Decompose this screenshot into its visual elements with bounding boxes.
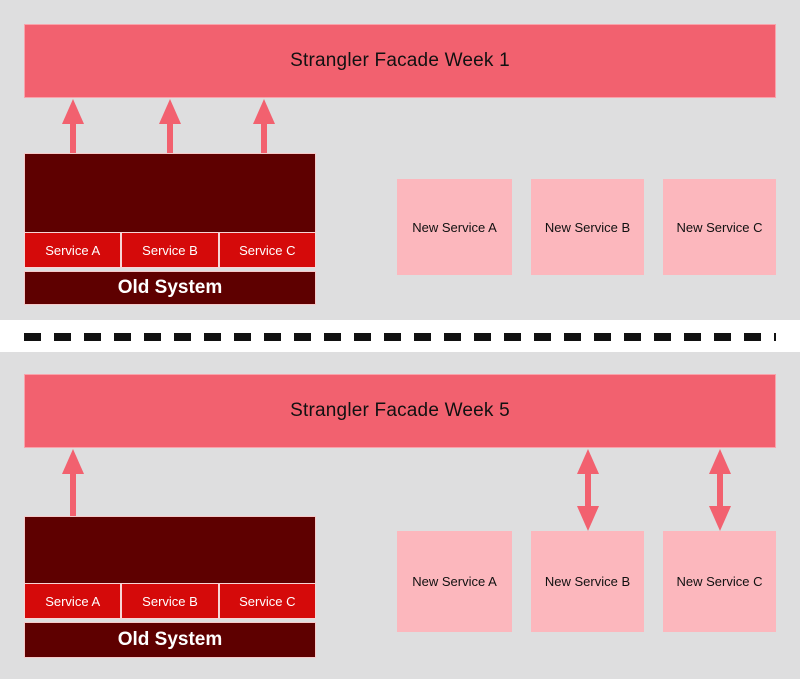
service-label: Service C bbox=[239, 243, 295, 258]
panel-week-5: Strangler Facade Week 5 Service A Servic… bbox=[0, 352, 800, 679]
panel-week-1: Strangler Facade Week 1 Service A Servic… bbox=[0, 0, 800, 320]
old-system-bar-week5: Old System bbox=[24, 622, 316, 658]
strangler-facade-bar-week1[interactable]: Strangler Facade Week 1 bbox=[24, 24, 776, 98]
old-system-bar-week1: Old System bbox=[24, 271, 316, 305]
new-service-box-b-week1[interactable]: New Service B bbox=[531, 179, 644, 275]
service-label: Service B bbox=[142, 243, 198, 258]
strangler-facade-bar-week5[interactable]: Strangler Facade Week 5 bbox=[24, 374, 776, 448]
new-service-box-c-week5[interactable]: New Service C bbox=[663, 531, 776, 632]
new-service-box-a-week5[interactable]: New Service A bbox=[397, 531, 512, 632]
service-cell-a-week1[interactable]: Service A bbox=[24, 232, 121, 268]
facade-label: Strangler Facade Week 1 bbox=[290, 50, 510, 72]
dashed-line bbox=[24, 333, 776, 341]
service-cell-c-week1[interactable]: Service C bbox=[219, 232, 316, 268]
facade-label: Strangler Facade Week 5 bbox=[290, 400, 510, 422]
new-service-label: New Service B bbox=[545, 220, 630, 235]
arrow-facade-to-new-service-c-week5 bbox=[705, 448, 735, 532]
new-service-box-b-week5[interactable]: New Service B bbox=[531, 531, 644, 632]
service-cell-a-week5[interactable]: Service A bbox=[24, 583, 121, 619]
service-label: Service A bbox=[45, 243, 100, 258]
new-service-label: New Service B bbox=[545, 574, 630, 589]
service-cell-c-week5[interactable]: Service C bbox=[219, 583, 316, 619]
section-divider bbox=[0, 320, 800, 352]
arrow-facade-to-new-service-b-week5 bbox=[573, 448, 603, 532]
legacy-block-week1 bbox=[24, 153, 316, 233]
new-service-label: New Service C bbox=[677, 220, 763, 235]
old-system-label: Old System bbox=[118, 629, 223, 651]
diagram-canvas: Strangler Facade Week 1 Service A Servic… bbox=[0, 0, 800, 679]
new-service-label: New Service A bbox=[412, 220, 497, 235]
service-cell-b-week5[interactable]: Service B bbox=[121, 583, 218, 619]
service-label: Service A bbox=[45, 594, 100, 609]
service-cell-b-week1[interactable]: Service B bbox=[121, 232, 218, 268]
legacy-services-strip-week1: Service A Service B Service C bbox=[24, 232, 316, 268]
old-system-label: Old System bbox=[118, 277, 223, 299]
service-label: Service C bbox=[239, 594, 295, 609]
new-service-label: New Service C bbox=[677, 574, 763, 589]
legacy-block-week5 bbox=[24, 516, 316, 584]
legacy-services-strip-week5: Service A Service B Service C bbox=[24, 583, 316, 619]
new-service-label: New Service A bbox=[412, 574, 497, 589]
service-label: Service B bbox=[142, 594, 198, 609]
new-service-box-a-week1[interactable]: New Service A bbox=[397, 179, 512, 275]
new-service-box-c-week1[interactable]: New Service C bbox=[663, 179, 776, 275]
